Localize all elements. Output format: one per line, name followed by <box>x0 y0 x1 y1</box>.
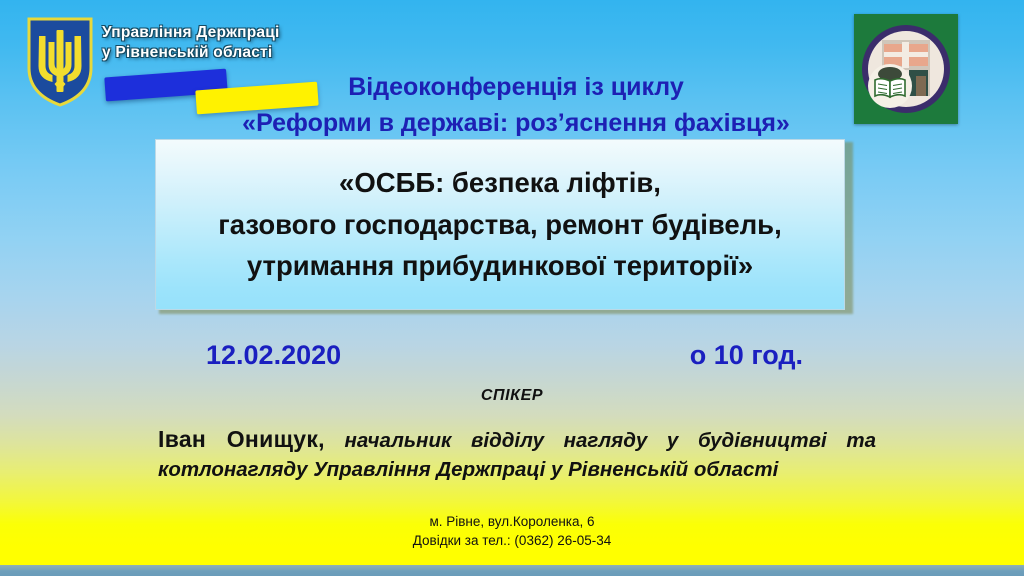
footer-contact-info: м. Рівне, вул.Короленка, 6 Довідки за те… <box>0 513 1024 550</box>
event-date: 12.02.2020 <box>206 340 341 371</box>
conference-series-title: Відеоконференція із циклу «Реформи в дер… <box>196 70 836 141</box>
speaker-section-label: СПІКЕР <box>0 387 1024 405</box>
presentation-slide: Управління Держпраці у Рівненській облас… <box>0 0 1024 576</box>
event-time: о 10 год. <box>690 340 803 371</box>
topic-box: «ОСББ: безпека ліфтів, газового господар… <box>155 139 845 310</box>
topic-line-3: утримання прибудинкової території» <box>247 252 753 280</box>
ukrainian-trident-coat-of-arms-icon <box>26 16 94 108</box>
organization-name: Управління Держпраці у Рівненській облас… <box>102 23 342 64</box>
topic-line-2: газового господарства, ремонт будівель, <box>218 211 781 239</box>
speaker-name: Іван Онищук, <box>158 426 325 452</box>
bottom-accent-strip <box>0 565 1024 576</box>
speaker-details: Іван Онищук, начальник відділу нагляду у… <box>158 424 876 484</box>
event-datetime-row: 12.02.2020 о 10 год. <box>155 340 845 374</box>
speaker-paragraph: Іван Онищук, начальник відділу нагляду у… <box>158 424 876 484</box>
footer-phone: Довідки за тел.: (0362) 26-05-34 <box>0 532 1024 551</box>
topic-line-1: «ОСББ: безпека ліфтів, <box>339 169 661 197</box>
conference-title-line2: «Реформи в державі: роз’яснення фахівця» <box>196 106 836 142</box>
org-name-line1: Управління Держпраці <box>102 24 279 41</box>
conference-title-line1: Відеоконференція із циклу <box>196 70 836 106</box>
footer-address: м. Рівне, вул.Короленка, 6 <box>0 513 1024 532</box>
library-building-book-emblem-icon <box>854 14 958 124</box>
org-name-line2: у Рівненській області <box>102 43 342 63</box>
